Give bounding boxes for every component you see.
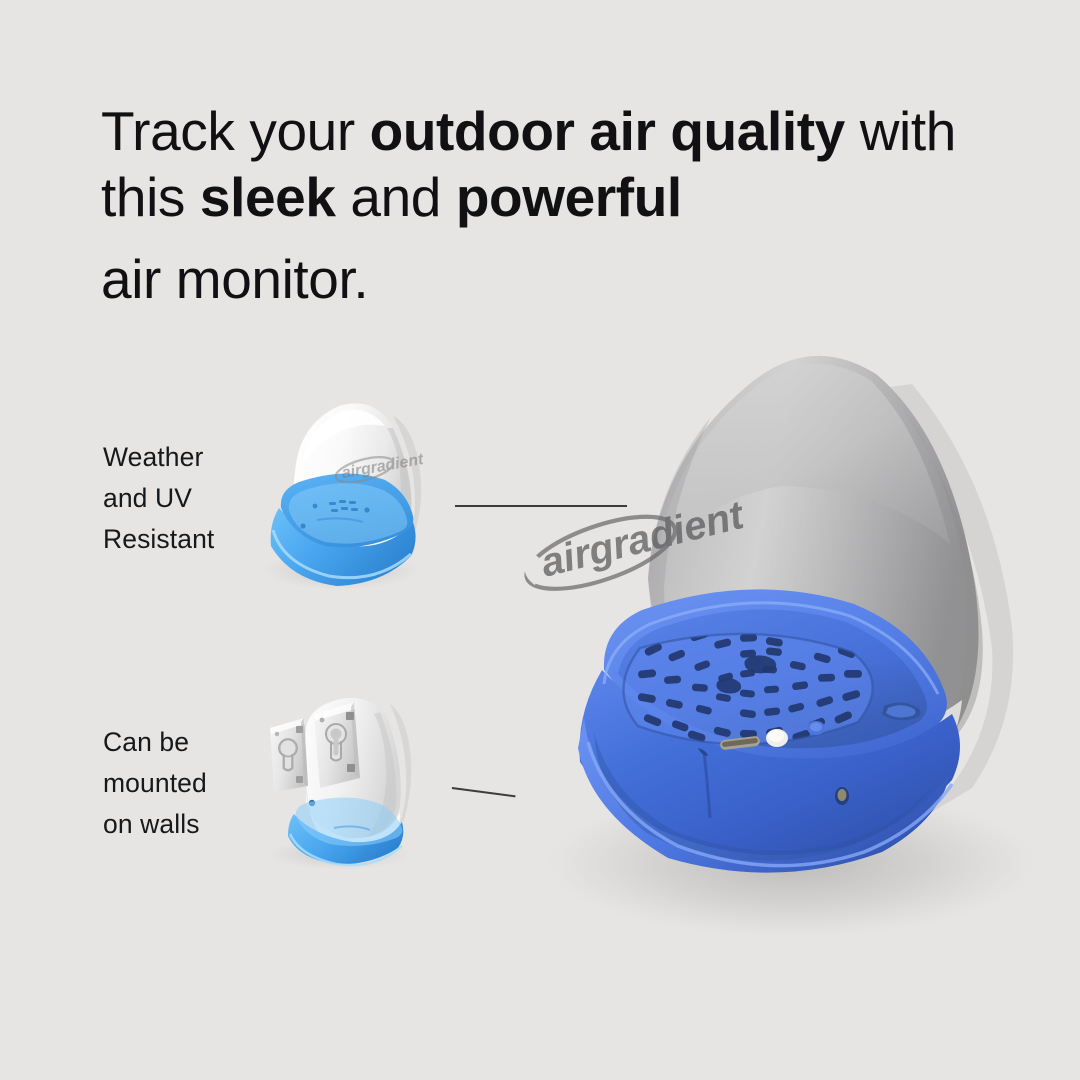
marketing-image-canvas: Track your outdoor air quality with this… [0, 0, 1080, 1080]
headline-line3: air monitor. [101, 246, 1021, 312]
callout-label-wall-mountable: Can be mounted on walls [103, 722, 207, 845]
page-title: Track your outdoor air quality with this… [101, 98, 1021, 312]
product-image-weather-resistant-enclosure: airgradient [243, 398, 433, 593]
product-image-main-air-monitor: airgradient [452, 318, 1022, 928]
headline-line2-regular-b: and [336, 166, 456, 228]
headline-line1-bold: outdoor air quality [370, 100, 845, 162]
headline-line1-regular-b: with [845, 100, 956, 162]
headline-line2-regular-a: this [101, 166, 200, 228]
headline-line1-regular-a: Track your [101, 100, 370, 162]
product-image-wall-mount-bracket [248, 688, 428, 868]
callout-label-weather-uv-resistant: Weather and UV Resistant [103, 437, 214, 560]
headline-line2-bold-2: powerful [456, 166, 682, 228]
headline-line2-bold-1: sleek [200, 166, 336, 228]
